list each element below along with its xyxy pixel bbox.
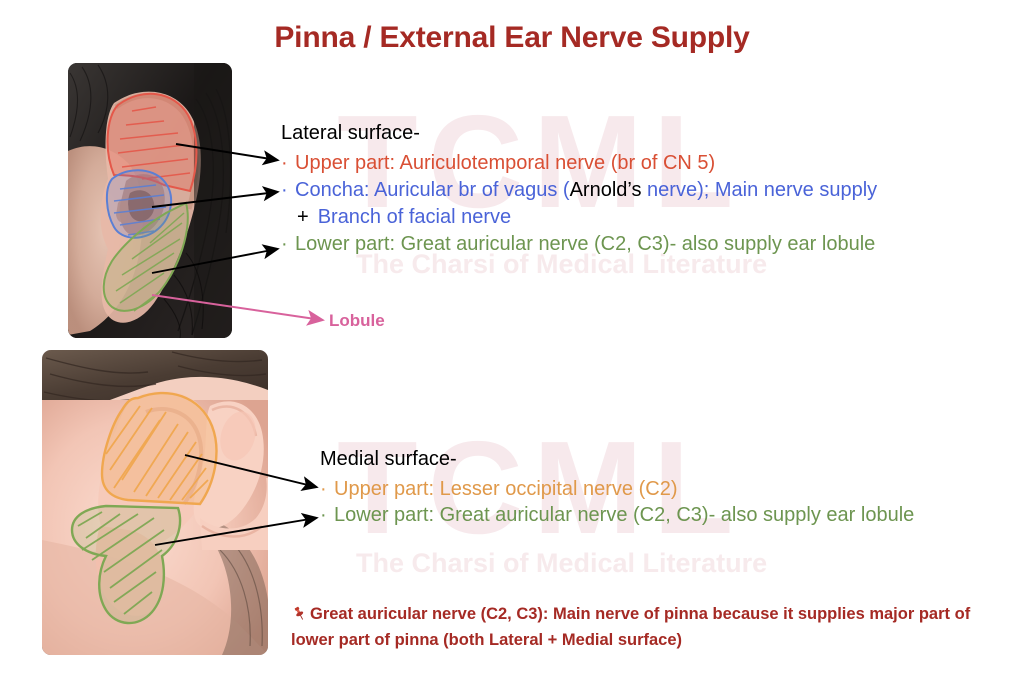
medial-surface-heading: Medial surface- (320, 448, 914, 471)
lobule-label: Lobule (329, 311, 385, 331)
lateral-bullet-concha-continuation: + Branch of facial nerve (297, 206, 877, 229)
lateral-bullet-upper-part-label: Upper part: Auriculotemporal nerve (br o… (295, 152, 715, 175)
lateral-bullet-concha-label-before: Concha: Auricular br of vagus ( (295, 179, 570, 201)
bullet-dot-icon: · (320, 479, 334, 499)
medial-bullet-lower-part-label: Lower part: Great auricular nerve (C2, C… (334, 504, 914, 527)
watermark-tagline-bottom: The Charsi of Medical Literature (356, 548, 767, 579)
lateral-bullet-lower-part: · Lower part: Great auricular nerve (C2,… (281, 233, 877, 256)
bullet-dot-icon: · (320, 505, 334, 525)
lateral-bullet-lower-part-label: Lower part: Great auricular nerve (C2, C… (295, 233, 875, 256)
lateral-bullet-upper-part: · Upper part: Auriculotemporal nerve (br… (281, 152, 877, 175)
lateral-bullet-concha-emphasis: Arnold’s (570, 179, 642, 201)
lateral-surface-heading: Lateral surface- (281, 122, 877, 145)
lateral-bullet-concha: · Concha: Auricular br of vagus (Arnold’… (281, 179, 877, 202)
footnote-line-1: Great auricular nerve (C2, C3): Main ner… (310, 605, 950, 623)
lateral-surface-ear-photo (68, 63, 232, 338)
page-title: Pinna / External Ear Nerve Supply (0, 21, 1024, 55)
bullet-dot-icon: · (281, 234, 295, 254)
medial-surface-ear-photo (42, 350, 268, 655)
pushpin-icon (291, 605, 310, 629)
slide-canvas: TCML The Charsi of Medical Literature TC… (0, 0, 1024, 681)
medial-bullet-upper-part: · Upper part: Lesser occipital nerve (C2… (320, 478, 914, 501)
medial-surface-text-block: Medial surface- · Upper part: Lesser occ… (320, 448, 914, 530)
lateral-bullet-concha-continuation-label: Branch of facial nerve (318, 206, 511, 229)
bullet-dot-icon: · (281, 180, 295, 200)
lateral-surface-text-block: Lateral surface- · Upper part: Auriculot… (281, 122, 877, 260)
plus-sign-icon: + (297, 206, 309, 229)
medial-bullet-lower-part: · Lower part: Great auricular nerve (C2,… (320, 504, 914, 527)
medial-bullet-upper-part-label: Upper part: Lesser occipital nerve (C2) (334, 478, 677, 501)
footnote-note: Great auricular nerve (C2, C3): Main ner… (291, 603, 991, 652)
lateral-bullet-concha-label-after: nerve); Main nerve supply (642, 179, 878, 201)
bullet-dot-icon: · (281, 153, 295, 173)
